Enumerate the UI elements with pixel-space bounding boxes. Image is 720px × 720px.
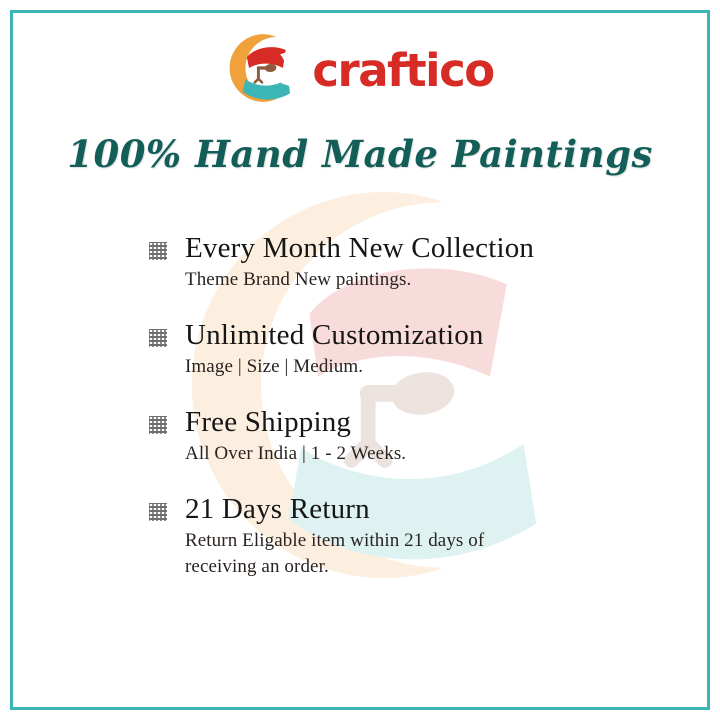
list-item: Free Shipping All Over India | 1 - 2 Wee…	[148, 406, 618, 467]
brand-wordmark: craftico	[312, 48, 493, 93]
woven-square-bullet-icon	[148, 502, 168, 522]
feature-subtitle: Theme Brand New paintings.	[185, 267, 618, 292]
feature-title: Every Month New Collection	[185, 232, 534, 264]
feature-title: 21 Days Return	[185, 493, 370, 525]
feature-subtitle: Return Eligable item within 21 days of r…	[185, 528, 545, 579]
feature-title: Free Shipping	[185, 406, 351, 438]
brand-logo: craftico	[0, 32, 720, 104]
woven-square-bullet-icon	[148, 241, 168, 261]
woven-square-bullet-icon	[148, 328, 168, 348]
craftico-c-brush-logo-icon	[226, 32, 298, 104]
page-title: 100% Hand Made Paintings	[0, 132, 720, 176]
woven-square-bullet-icon	[148, 415, 168, 435]
feature-title: Unlimited Customization	[185, 319, 484, 351]
feature-list: Every Month New Collection Theme Brand N…	[148, 232, 618, 579]
promo-banner: craftico 100% Hand Made Paintings	[0, 0, 720, 720]
list-item: 21 Days Return Return Eligable item with…	[148, 493, 618, 579]
feature-subtitle: All Over India | 1 - 2 Weeks.	[185, 441, 618, 466]
feature-subtitle: Image | Size | Medium.	[185, 354, 618, 379]
list-item: Unlimited Customization Image | Size | M…	[148, 319, 618, 380]
list-item: Every Month New Collection Theme Brand N…	[148, 232, 618, 293]
